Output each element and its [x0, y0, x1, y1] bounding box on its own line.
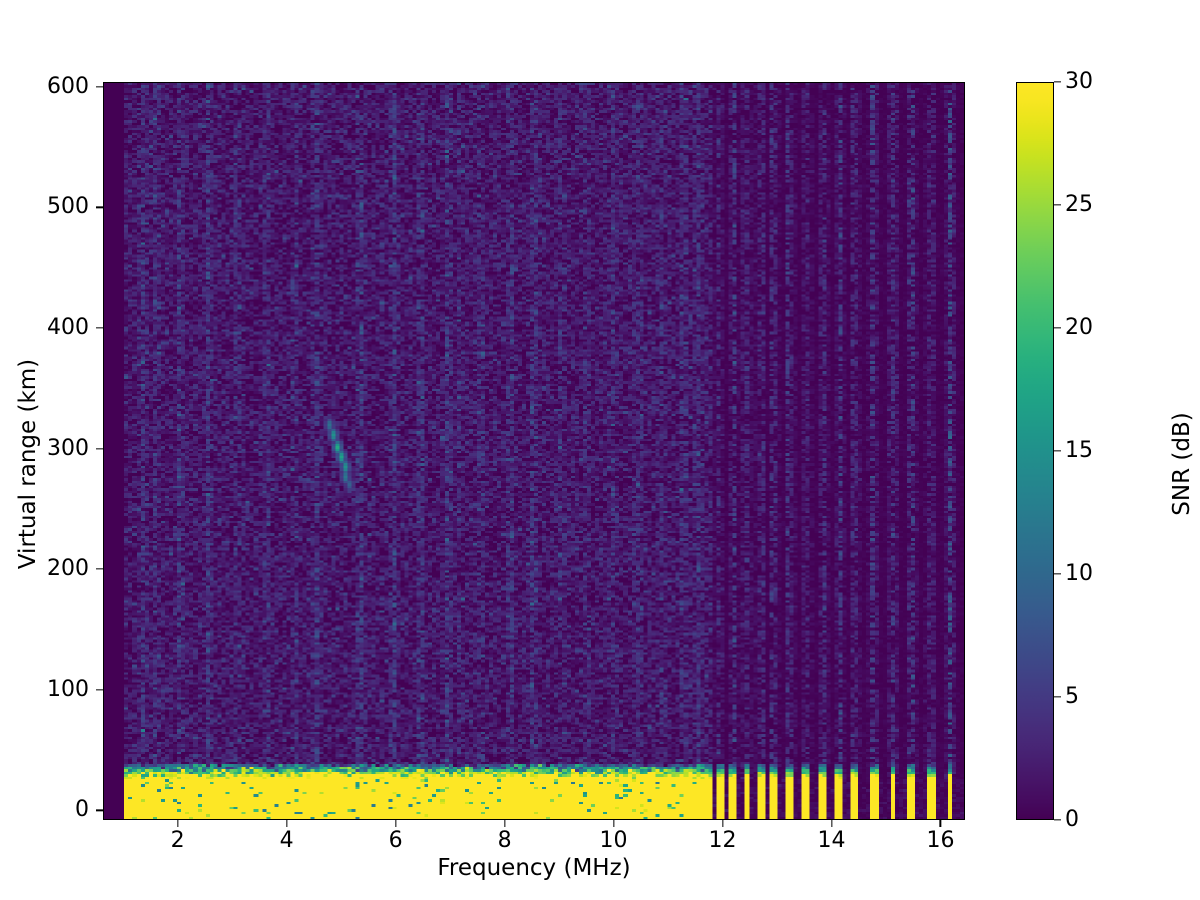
x-tick-mark: [395, 820, 396, 827]
colorbar[interactable]: [1016, 82, 1054, 820]
y-tick-mark: [96, 86, 103, 87]
y-tick-label: 600: [0, 76, 89, 98]
y-tick-label: 300: [0, 438, 89, 460]
colorbar-tick-mark: [1054, 696, 1061, 697]
x-tick-mark: [286, 820, 287, 827]
x-tick-label: 6: [389, 828, 403, 854]
x-tick-label: 14: [818, 828, 846, 854]
ionogram-plot-area[interactable]: [103, 82, 965, 820]
y-tick-mark: [96, 207, 103, 208]
colorbar-tick-mark: [1054, 819, 1061, 820]
colorbar-tick-mark: [1054, 450, 1061, 451]
x-tick-mark: [613, 820, 614, 827]
y-tick-label: 400: [0, 317, 89, 339]
x-tick-label: 16: [926, 828, 954, 854]
x-tick-label: 10: [600, 828, 628, 854]
y-tick-label: 500: [0, 196, 89, 218]
y-tick-mark: [96, 810, 103, 811]
colorbar-tick-mark: [1054, 327, 1061, 328]
x-tick-label: 12: [709, 828, 737, 854]
colorbar-tick-label: 0: [1065, 809, 1079, 831]
y-tick-mark: [96, 689, 103, 690]
x-tick-label: 8: [498, 828, 512, 854]
colorbar-tick-mark: [1054, 204, 1061, 205]
y-axis-label: Virtual range (km): [15, 244, 41, 684]
ionogram-figure: IRF Kiruna Ionosonde KI167 2025-09-17 13…: [0, 0, 1200, 900]
colorbar-label: SNR (dB): [1169, 244, 1195, 684]
y-tick-label: 100: [0, 679, 89, 701]
colorbar-tick-label: 25: [1065, 194, 1093, 216]
x-tick-label: 2: [171, 828, 185, 854]
x-axis-label: Frequency (MHz): [103, 855, 965, 881]
colorbar-tick-label: 20: [1065, 317, 1093, 339]
ionogram-heatmap-canvas[interactable]: [104, 83, 964, 819]
colorbar-tick-label: 15: [1065, 440, 1093, 462]
colorbar-tick-mark: [1054, 573, 1061, 574]
colorbar-tick-label: 5: [1065, 686, 1079, 708]
y-tick-mark: [96, 327, 103, 328]
colorbar-tick-mark: [1054, 81, 1061, 82]
y-tick-mark: [96, 448, 103, 449]
y-tick-mark: [96, 569, 103, 570]
y-tick-label: 200: [0, 558, 89, 580]
colorbar-gradient: [1017, 83, 1053, 819]
x-tick-mark: [940, 820, 941, 827]
x-tick-mark: [722, 820, 723, 827]
x-tick-mark: [831, 820, 832, 827]
x-tick-label: 4: [280, 828, 294, 854]
x-tick-mark: [504, 820, 505, 827]
colorbar-tick-label: 30: [1065, 71, 1093, 93]
y-tick-label: 0: [0, 799, 89, 821]
colorbar-tick-label: 10: [1065, 563, 1093, 585]
x-tick-mark: [177, 820, 178, 827]
